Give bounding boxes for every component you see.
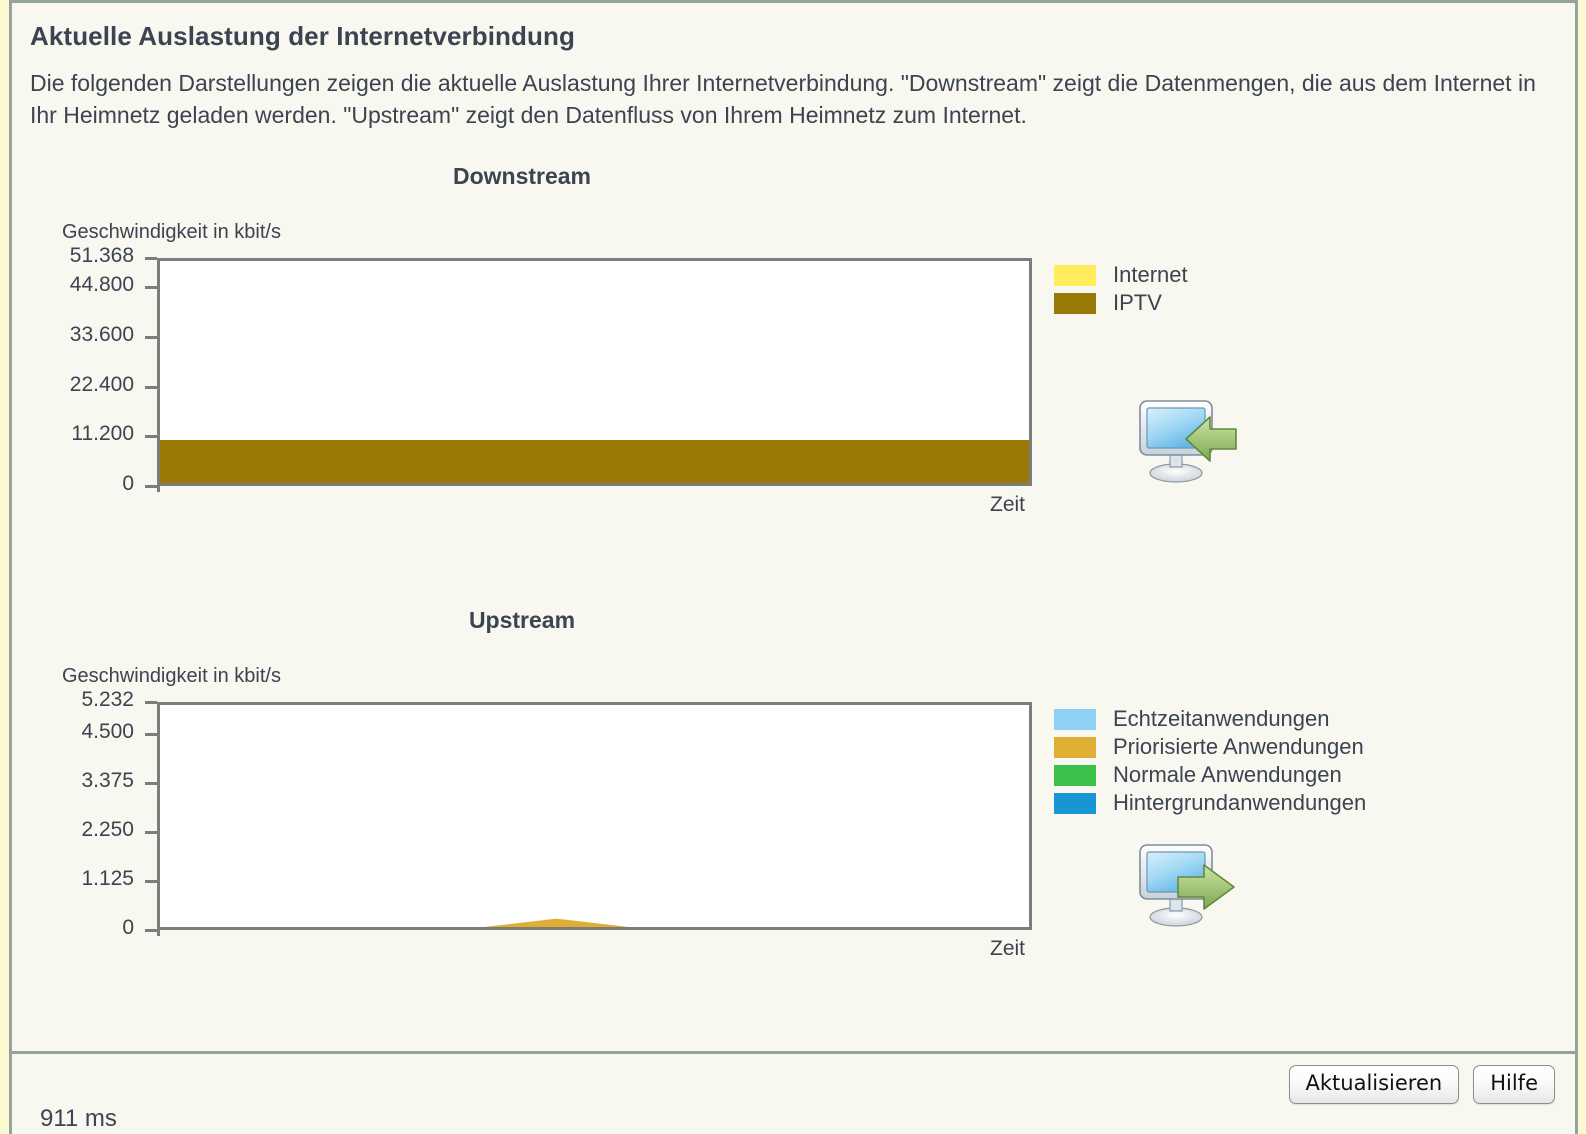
page-title: Aktuelle Auslastung der Internetverbindu… xyxy=(30,21,575,52)
y-tick-label: 0 xyxy=(12,472,134,496)
y-tick-label: 4.500 xyxy=(12,720,134,744)
legend-label: IPTV xyxy=(1113,290,1162,316)
downstream-series-iptv xyxy=(160,440,1029,483)
y-tick-mark xyxy=(145,929,157,932)
legend-label: Priorisierte Anwendungen xyxy=(1113,734,1364,760)
page-frame: Aktuelle Auslastung der Internetverbindu… xyxy=(9,0,1578,1134)
legend-row: Echtzeitanwendungen xyxy=(1054,705,1366,733)
upstream-y-axis-caption: Geschwindigkeit in kbit/s xyxy=(62,665,281,688)
monitor-upload-icon xyxy=(1132,839,1238,932)
y-tick-mark xyxy=(145,257,157,260)
monitor-download-icon xyxy=(1132,395,1238,488)
y-tick-label: 33.600 xyxy=(12,323,134,347)
legend-swatch xyxy=(1054,737,1096,758)
upstream-legend: EchtzeitanwendungenPriorisierte Anwendun… xyxy=(1054,705,1366,817)
y-tick-mark xyxy=(145,435,157,438)
downstream-chart-title: Downstream xyxy=(12,163,1032,190)
y-tick-label: 2.250 xyxy=(12,818,134,842)
page-content: Aktuelle Auslastung der Internetverbindu… xyxy=(12,3,1575,1134)
legend-swatch xyxy=(1054,765,1096,786)
upstream-series-group xyxy=(160,705,1032,930)
upstream-chart-title: Upstream xyxy=(12,607,1032,634)
legend-row: Hintergrundanwendungen xyxy=(1054,789,1366,817)
status-text: 911 ms xyxy=(40,1105,117,1133)
upstream-x-axis-label: Zeit xyxy=(990,937,1025,961)
y-tick-label: 51.368 xyxy=(12,244,134,268)
refresh-button[interactable]: Aktualisieren xyxy=(1289,1065,1460,1104)
y-tick-mark xyxy=(145,782,157,785)
y-tick-label: 0 xyxy=(12,916,134,940)
y-tick-mark xyxy=(145,831,157,834)
legend-swatch xyxy=(1054,293,1096,314)
legend-swatch xyxy=(1054,709,1096,730)
legend-row: Internet xyxy=(1054,261,1188,289)
y-tick-mark xyxy=(145,485,157,488)
legend-row: Priorisierte Anwendungen xyxy=(1054,733,1366,761)
y-tick-label: 11.200 xyxy=(12,422,134,446)
downstream-plot-area xyxy=(160,258,1032,486)
footer-buttons: Aktualisieren Hilfe xyxy=(1289,1065,1556,1104)
y-tick-label: 3.375 xyxy=(12,769,134,793)
y-tick-mark xyxy=(145,701,157,704)
help-button[interactable]: Hilfe xyxy=(1473,1065,1555,1104)
y-tick-mark xyxy=(145,286,157,289)
upstream-series-area xyxy=(160,919,1032,930)
upstream-plot-area xyxy=(160,702,1032,930)
y-tick-label: 5.232 xyxy=(12,688,134,712)
y-tick-label: 22.400 xyxy=(12,373,134,397)
legend-row: IPTV xyxy=(1054,289,1188,317)
legend-swatch xyxy=(1054,265,1096,286)
footer-divider xyxy=(12,1051,1575,1054)
y-tick-mark xyxy=(145,386,157,389)
legend-swatch xyxy=(1054,793,1096,814)
y-tick-label: 1.125 xyxy=(12,867,134,891)
page-description: Die folgenden Darstellungen zeigen die a… xyxy=(30,67,1550,131)
downstream-legend: InternetIPTV xyxy=(1054,261,1188,317)
y-tick-label: 44.800 xyxy=(12,273,134,297)
legend-label: Normale Anwendungen xyxy=(1113,762,1342,788)
legend-label: Echtzeitanwendungen xyxy=(1113,706,1330,732)
downstream-y-axis-caption: Geschwindigkeit in kbit/s xyxy=(62,221,281,244)
legend-label: Internet xyxy=(1113,262,1188,288)
legend-row: Normale Anwendungen xyxy=(1054,761,1366,789)
page-background: Aktuelle Auslastung der Internetverbindu… xyxy=(0,0,1586,1134)
downstream-x-axis-label: Zeit xyxy=(990,493,1025,517)
y-tick-mark xyxy=(145,733,157,736)
y-tick-mark xyxy=(145,880,157,883)
y-tick-mark xyxy=(145,336,157,339)
legend-label: Hintergrundanwendungen xyxy=(1113,790,1366,816)
